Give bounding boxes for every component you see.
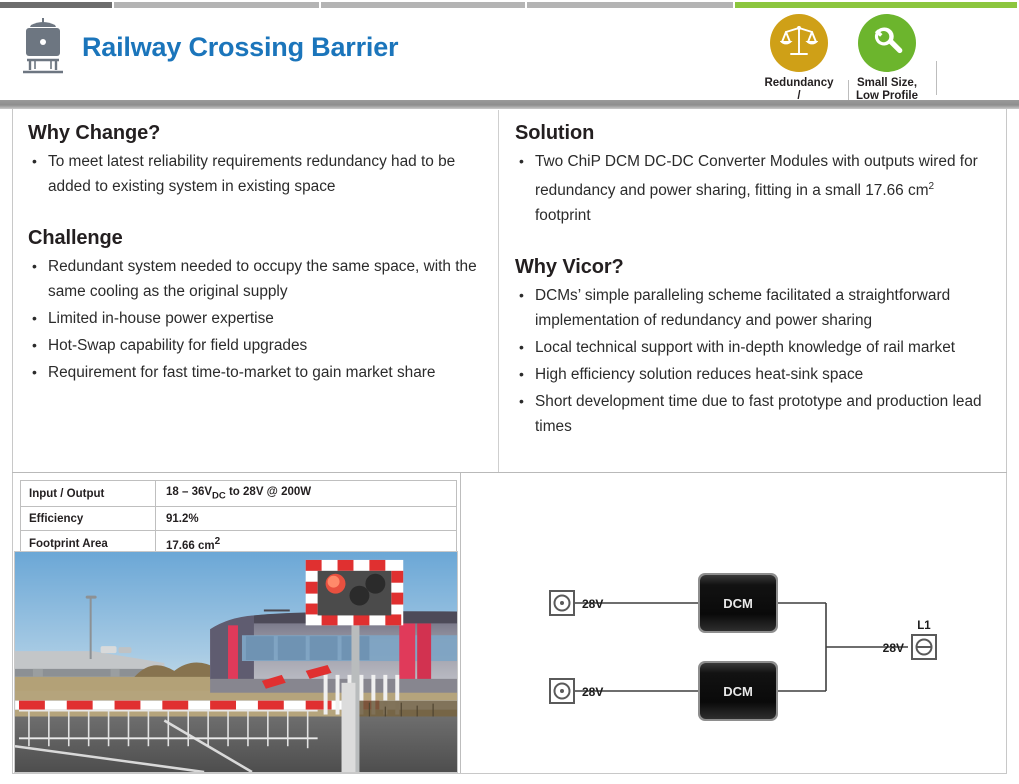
- page-header: Railway Crossing Barrier: [0, 10, 1019, 98]
- dcm-redundancy-diagram: 28V 28V DCM DCM 28V L1: [466, 545, 1007, 773]
- header-title-group: Railway Crossing Barrier: [18, 16, 398, 78]
- svg-text:L1: L1: [917, 620, 931, 632]
- list-item: Short development time due to fast proto…: [515, 389, 993, 439]
- table-row: Input / Output 18 – 36VDC to 28V @ 200W: [21, 481, 457, 507]
- train-icon: [18, 16, 68, 78]
- superscript-two: 2: [215, 536, 221, 547]
- table-row: Efficiency 91.2%: [21, 507, 457, 531]
- specification-table: Input / Output 18 – 36VDC to 28V @ 200W …: [20, 480, 457, 558]
- list-item: High efficiency solution reduces heat-si…: [515, 362, 993, 387]
- badge-label-line1: Small Size,: [857, 77, 917, 89]
- why-vicor-bullet-list: DCMs’ simple paralleling scheme facilita…: [515, 283, 993, 439]
- solution-text-part1: Two ChiP DCM DC-DC Converter Modules wit…: [535, 153, 978, 199]
- spec-key-efficiency: Efficiency: [21, 507, 156, 531]
- strip-segment-2: [114, 2, 321, 8]
- list-item: Requirement for fast time-to-market to g…: [28, 360, 482, 385]
- list-item: Redundant system needed to occupy the sa…: [28, 254, 482, 304]
- balance-scales-icon: [780, 22, 818, 65]
- section-title-why-vicor: Why Vicor?: [515, 256, 993, 279]
- column-right: Solution Two ChiP DCM DC-DC Converter Mo…: [499, 110, 1007, 472]
- list-item: Hot-Swap capability for field upgrades: [28, 333, 482, 358]
- spec-value-part1: 18 – 36V: [166, 486, 212, 498]
- svg-text:28V: 28V: [582, 597, 603, 611]
- solution-bullet-list: Two ChiP DCM DC-DC Converter Modules wit…: [515, 149, 993, 228]
- why-change-bullet-list: To meet latest reliability requirements …: [28, 149, 482, 199]
- strip-segment-4: [527, 2, 735, 8]
- spec-value-part2: to 28V @ 200W: [226, 486, 311, 498]
- section-title-solution: Solution: [515, 122, 993, 145]
- badge-small-size-low-profile: Small Size, Low Profile: [843, 14, 931, 103]
- spec-key-input-output: Input / Output: [21, 481, 156, 507]
- strip-segment-3: [321, 2, 527, 8]
- svg-text:28V: 28V: [883, 641, 904, 655]
- svg-text:DCM: DCM: [723, 684, 753, 699]
- svg-text:28V: 28V: [582, 685, 603, 699]
- top-progress-strip: [0, 2, 1019, 8]
- spec-value-efficiency: 91.2%: [156, 507, 457, 531]
- content-columns: Why Change? To meet latest reliability r…: [12, 110, 1007, 472]
- strip-segment-5: [735, 2, 1019, 8]
- wrench-icon: [869, 23, 905, 64]
- bottom-vertical-divider: [460, 473, 461, 773]
- badge-divider: [936, 61, 937, 95]
- svg-text:DCM: DCM: [723, 596, 753, 611]
- section-title-challenge: Challenge: [28, 227, 482, 250]
- load-output: 28V L1: [883, 620, 936, 659]
- column-left: Why Change? To meet latest reliability r…: [12, 110, 499, 472]
- page-title: Railway Crossing Barrier: [82, 32, 398, 63]
- list-item: Limited in-house power expertise: [28, 306, 482, 331]
- dcm-module-bottom: DCM: [698, 661, 778, 721]
- challenge-bullet-list: Redundant system needed to occupy the sa…: [28, 254, 482, 385]
- list-item: Local technical support with in-depth kn…: [515, 335, 993, 360]
- list-item: Two ChiP DCM DC-DC Converter Modules wit…: [515, 149, 993, 228]
- section-spacer: [28, 201, 482, 223]
- badge-circle-green: [858, 14, 916, 72]
- solution-text-part2: footprint: [535, 207, 591, 224]
- list-item: To meet latest reliability requirements …: [28, 149, 482, 199]
- badge-label-line1: Redundancy /: [764, 77, 833, 102]
- superscript-two: 2: [929, 181, 935, 192]
- content-bottom-divider: [12, 472, 1007, 473]
- railway-level-crossing-photo: [14, 551, 458, 773]
- section-spacer: [515, 230, 993, 252]
- spec-value-input-output: 18 – 36VDC to 28V @ 200W: [156, 481, 457, 507]
- header-divider: [0, 100, 1019, 109]
- strip-segment-1: [0, 2, 114, 8]
- spec-value-subscript: DC: [212, 490, 226, 501]
- badge-circle-gold: [770, 14, 828, 72]
- section-title-why-change: Why Change?: [28, 122, 482, 145]
- list-item: DCMs’ simple paralleling scheme facilita…: [515, 283, 993, 333]
- dcm-module-top: DCM: [698, 573, 778, 633]
